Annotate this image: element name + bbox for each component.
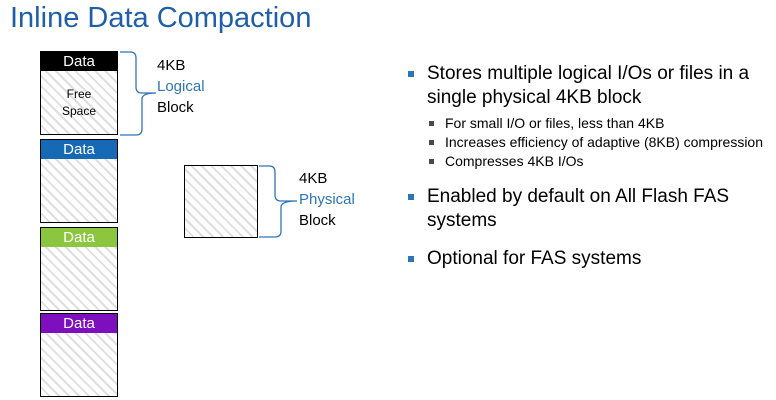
free-space-label: Free Space [41,86,117,120]
sub-bullet-1-1-text: For small I/O or files, less than 4KB [445,115,664,131]
bullet-item-2-text: Enabled by default on All Flash FAS syst… [427,186,729,231]
sub-bullet-marker-icon [429,121,434,126]
sub-bullet-1-3: Compresses 4KB I/Os [427,152,772,171]
bullet-marker-icon [408,71,414,77]
sub-bullet-marker-icon [429,140,434,145]
physical-caption-size: 4KB [299,168,355,189]
bullet-marker-icon [408,194,414,200]
bullet-item-2: Enabled by default on All Flash FAS syst… [406,185,772,233]
logical-block-caption: 4KB Logical Block [157,55,205,118]
logical-block-2: Data [40,139,118,223]
logical-caption-size: 4KB [157,55,205,76]
bullet-item-1-sublist: For small I/O or files, less than 4KB In… [406,114,772,171]
bullet-list: Stores multiple logical I/Os or files in… [406,62,772,273]
logical-block-4-header: Data [41,314,117,333]
logical-caption-block: Block [157,97,205,118]
sub-bullet-1-2: Increases efficiency of adaptive (8KB) c… [427,133,772,152]
logical-block-3: Data [40,227,118,311]
logical-block-1: Data Free Space [40,51,118,135]
logical-block-2-header: Data [41,140,117,159]
free-space-line-2: Space [41,103,117,120]
logical-caption-kind: Logical [157,76,205,97]
bullet-marker-icon [408,256,414,262]
physical-block-caption: 4KB Physical Block [299,168,355,231]
bullet-item-1: Stores multiple logical I/Os or files in… [406,62,772,110]
physical-caption-block: Block [299,210,355,231]
bullet-item-3-text: Optional for FAS systems [427,248,641,269]
bullet-item-1-text: Stores multiple logical I/Os or files in… [427,63,749,108]
physical-brace-icon [257,163,301,243]
sub-bullet-1-2-text: Increases efficiency of adaptive (8KB) c… [445,134,763,150]
sub-bullet-1-1: For small I/O or files, less than 4KB [427,114,772,133]
page-title: Inline Data Compaction [10,2,311,35]
logical-block-4-body [41,333,117,396]
sub-bullet-marker-icon [429,159,434,164]
sub-bullet-1-3-text: Compresses 4KB I/Os [445,153,584,169]
free-space-line-1: Free [41,86,117,103]
logical-block-1-header: Data [41,52,117,71]
logical-block-4: Data [40,313,118,397]
logical-block-3-header: Data [41,228,117,247]
bullet-item-3: Optional for FAS systems [406,247,772,271]
logical-block-1-body: Free Space [41,71,117,134]
logical-block-2-body [41,159,117,222]
physical-caption-kind: Physical [299,189,355,210]
logical-block-3-body [41,247,117,310]
logical-brace-icon [118,49,160,141]
physical-block [184,165,258,238]
